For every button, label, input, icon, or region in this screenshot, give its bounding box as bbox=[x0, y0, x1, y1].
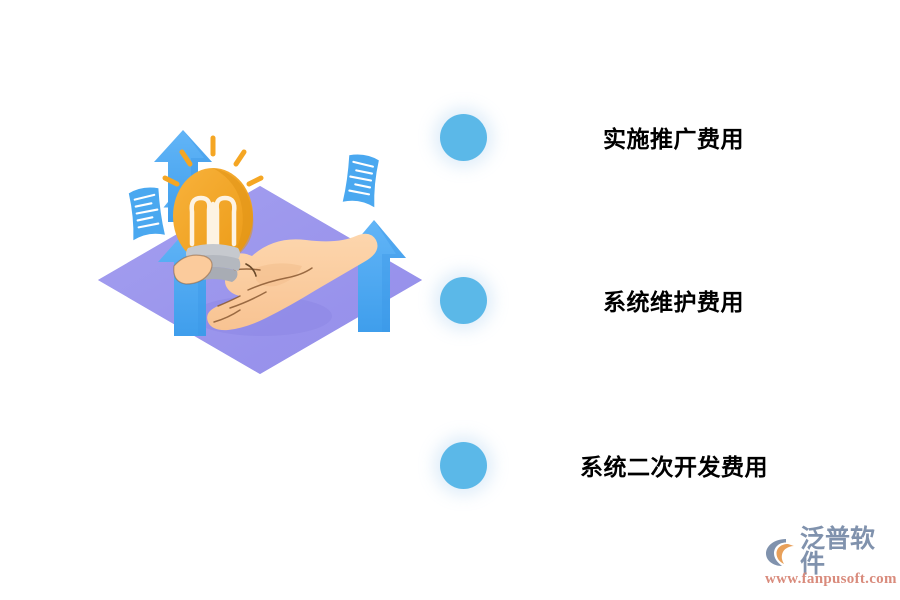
bullet-row-1[interactable]: 实施推广费用 bbox=[440, 112, 880, 162]
paper-sheet-right bbox=[343, 153, 382, 207]
bullet-row-2[interactable]: 系统维护费用 bbox=[440, 275, 880, 325]
watermark-top-row: 泛普软件 bbox=[764, 534, 894, 570]
paper-sheet-left bbox=[126, 186, 165, 240]
watermark-url-text: www.fanpusoft.com bbox=[765, 571, 897, 588]
bullet-label-1: 实施推广费用 bbox=[603, 120, 744, 154]
bullet-dot-icon-1 bbox=[440, 114, 487, 161]
watermark-logo: 泛普软件 www.fanpusoft.com bbox=[764, 534, 894, 592]
bullet-label-3: 系统二次开发费用 bbox=[580, 448, 768, 482]
bullet-label-2: 系统维护费用 bbox=[603, 283, 744, 317]
watermark-brand-text: 泛普软件 bbox=[800, 527, 894, 577]
illustration-hand-holding-lightbulb bbox=[70, 140, 450, 400]
bullet-dot-icon-2 bbox=[440, 277, 487, 324]
diagram-canvas: 实施推广费用 系统维护费用 系统二次开发费用 泛普软件 www.fanpusof… bbox=[0, 0, 900, 600]
bullet-row-3[interactable]: 系统二次开发费用 bbox=[440, 440, 880, 490]
fanpu-logo-icon bbox=[764, 536, 798, 568]
bullet-dot-icon-3 bbox=[440, 442, 487, 489]
